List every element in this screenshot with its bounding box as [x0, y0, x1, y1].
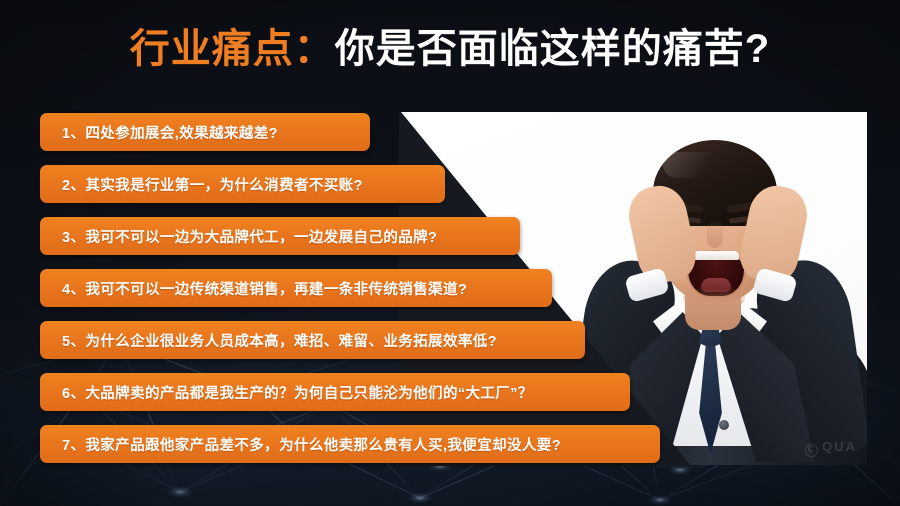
- slide-root: 行业痛点：你是否面临这样的痛苦?: [0, 0, 900, 506]
- pain-point-text: 5、为什么企业很业务人员成本高，难招、难留、业务拓展效率低?: [40, 330, 497, 351]
- pain-point-bar[interactable]: 3、我可不可以一边为大品牌代工，一边发展自己的品牌?: [40, 217, 520, 255]
- pain-point-bar[interactable]: 5、为什么企业很业务人员成本高，难招、难留、业务拓展效率低?: [40, 321, 585, 359]
- pain-point-bar[interactable]: 7、我家产品跟他家产品差不多，为什么他卖那么贵有人买,我便宜却没人要?: [40, 425, 660, 463]
- pain-point-bar[interactable]: 6、大品牌卖的产品都是我生产的？为何自己只能沦为他们的“大工厂”？: [40, 373, 630, 411]
- pain-point-bar[interactable]: 4、我可不可以一边传统渠道销售，再建一条非传统销售渠道?: [40, 269, 552, 307]
- pain-point-text: 7、我家产品跟他家产品差不多，为什么他卖那么贵有人买,我便宜却没人要?: [40, 434, 561, 455]
- pain-point-text: 3、我可不可以一边为大品牌代工，一边发展自己的品牌?: [40, 226, 437, 247]
- pain-point-list: 1、四处参加展会,效果越来越差? 2、其实我是行业第一，为什么消费者不买账? 3…: [0, 0, 900, 506]
- pain-point-bar[interactable]: 2、其实我是行业第一，为什么消费者不买账?: [40, 165, 445, 203]
- pain-point-bar[interactable]: 1、四处参加展会,效果越来越差?: [40, 113, 370, 151]
- pain-point-text: 6、大品牌卖的产品都是我生产的？为何自己只能沦为他们的“大工厂”？: [40, 382, 533, 403]
- pain-point-text: 2、其实我是行业第一，为什么消费者不买账?: [40, 174, 363, 195]
- pain-point-text: 1、四处参加展会,效果越来越差?: [40, 122, 278, 143]
- pain-point-text: 4、我可不可以一边传统渠道销售，再建一条非传统销售渠道?: [40, 278, 467, 299]
